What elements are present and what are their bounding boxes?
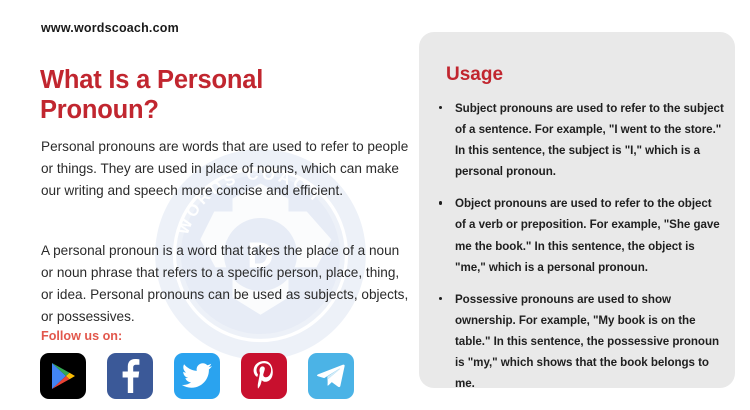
follow-us-label: Follow us on: xyxy=(41,329,122,343)
usage-panel-title: Usage xyxy=(446,64,503,86)
facebook-icon[interactable] xyxy=(107,353,153,399)
intro-paragraph-2: A personal pronoun is a word that takes … xyxy=(41,240,413,328)
twitter-icon[interactable] xyxy=(174,353,220,399)
site-url[interactable]: www.wordscoach.com xyxy=(41,21,179,35)
telegram-icon[interactable] xyxy=(308,353,354,399)
list-item: Subject pronouns are used to refer to th… xyxy=(436,98,724,182)
left-column: www.wordscoach.com What Is a Personal Pr… xyxy=(0,0,418,410)
intro-paragraph-1: Personal pronouns are words that are use… xyxy=(41,136,413,202)
infographic-page: D WORDS COACH www.wordscoach.com What Is… xyxy=(0,0,750,410)
list-item: Possessive pronouns are used to show own… xyxy=(436,289,724,394)
usage-panel: Usage Subject pronouns are used to refer… xyxy=(419,32,735,388)
page-title: What Is a Personal Pronoun? xyxy=(40,66,370,126)
google-play-icon[interactable] xyxy=(40,353,86,399)
pinterest-icon[interactable] xyxy=(241,353,287,399)
usage-bullet-list: Subject pronouns are used to refer to th… xyxy=(436,98,724,405)
list-item: Object pronouns are used to refer to the… xyxy=(436,193,724,277)
social-links xyxy=(40,353,354,399)
